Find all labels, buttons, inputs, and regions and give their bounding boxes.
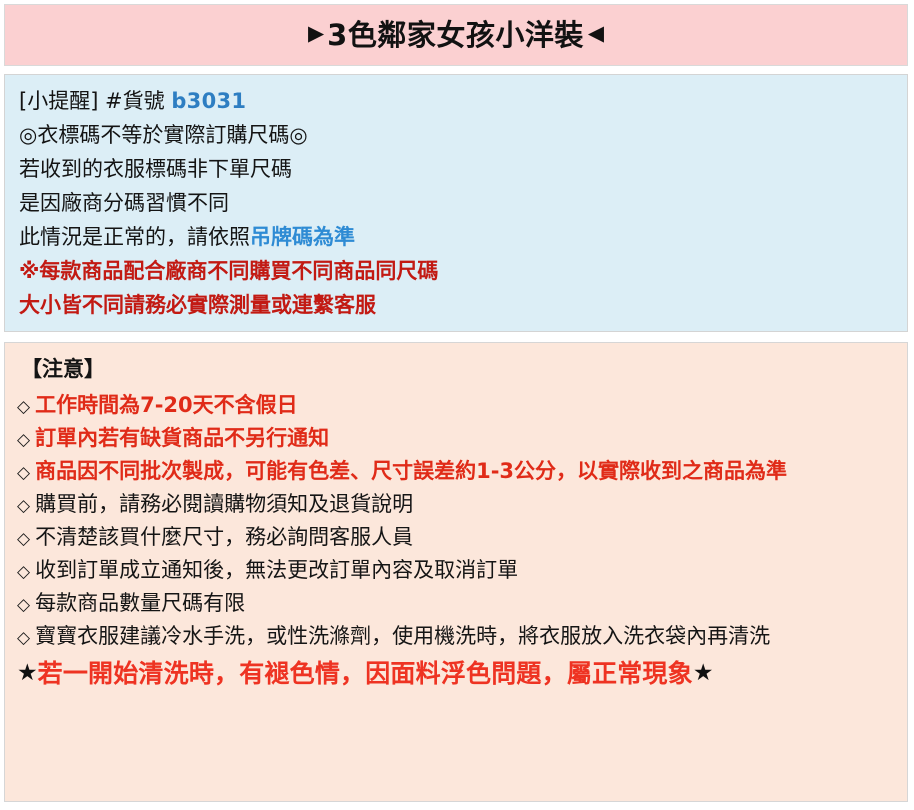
note-line-item-code: [小提醒] #貨號 b3031 [19, 85, 907, 119]
attention-item-label: 工作時間為7-20天不含假日 [35, 395, 298, 416]
note-line-hangtag-rule: 此情況是正常的，請依照吊牌碼為準 [19, 221, 907, 255]
diamond-bullet-icon: ◇ [17, 465, 30, 482]
diamond-bullet-icon: ◇ [17, 498, 30, 515]
diamond-bullet-icon: ◇ [17, 399, 30, 416]
product-code-value: b3031 [171, 89, 246, 113]
attention-item: ◇ 寶寶衣服建議冷水手洗，或性洗滌劑，使用機洗時，將衣服放入洗衣袋內再清洗 [17, 620, 907, 653]
attention-item: ◇ 商品因不同批次製成，可能有色差、尺寸誤差約1-3公分，以實際收到之商品為準 [17, 455, 907, 488]
attention-item: ◇ 工作時間為7-20天不含假日 [17, 389, 907, 422]
note-line-prefix: [小提醒] #貨號 [19, 89, 171, 113]
product-info-page: ▶ 3色鄰家女孩小洋裝 ◀ [小提醒] #貨號 b3031 ◎衣標碼不等於實際訂… [0, 0, 914, 810]
star-icon-right: ★ [693, 662, 714, 685]
attention-item: ◇ 不清楚該買什麼尺寸，務必詢問客服人員 [17, 521, 907, 554]
diamond-bullet-icon: ◇ [17, 564, 30, 581]
attention-item: ◇ 收到訂單成立通知後，無法更改訂單內容及取消訂單 [17, 554, 907, 587]
attention-footer: ★ 若一開始清洗時，有褪色情，因面料浮色問題，屬正常現象 ★ [17, 653, 907, 690]
attention-item-label: 每款商品數量尺碼有限 [35, 593, 245, 614]
reminder-note-box: [小提醒] #貨號 b3031 ◎衣標碼不等於實際訂購尺碼◎ 若收到的衣服標碼非… [4, 74, 908, 332]
note-line-size-disclaimer: ◎衣標碼不等於實際訂購尺碼◎ [19, 119, 907, 153]
note-line-vendor-sizing-warning: ※每款商品配合廠商不同購買不同商品同尺碼 [19, 255, 907, 289]
attention-item-label: 商品因不同批次製成，可能有色差、尺寸誤差約1-3公分，以實際收到之商品為準 [35, 461, 787, 482]
diamond-bullet-icon: ◇ [17, 432, 30, 449]
title-banner: ▶ 3色鄰家女孩小洋裝 ◀ [4, 4, 908, 66]
attention-item: ◇ 訂單內若有缺貨商品不另行通知 [17, 422, 907, 455]
attention-item: ◇ 購買前，請務必閱讀購物須知及退貨說明 [17, 488, 907, 521]
note-line-measure-warning: 大小皆不同請務必實際測量或連繫客服 [19, 289, 907, 323]
attention-heading: 【注意】 [17, 353, 907, 389]
attention-item-label: 不清楚該買什麼尺寸，務必詢問客服人員 [35, 527, 413, 548]
attention-item-label: 收到訂單成立通知後，無法更改訂單內容及取消訂單 [35, 560, 518, 581]
attention-item-label: 寶寶衣服建議冷水手洗，或性洗滌劑，使用機洗時，將衣服放入洗衣袋內再清洗 [35, 626, 770, 647]
note-line-prefix: 此情況是正常的，請依照 [19, 225, 250, 249]
attention-item-label: 購買前，請務必閱讀購物須知及退貨說明 [35, 494, 413, 515]
attention-box: 【注意】 ◇ 工作時間為7-20天不含假日 ◇ 訂單內若有缺貨商品不另行通知 ◇… [4, 342, 908, 802]
star-icon-left: ★ [17, 662, 38, 685]
attention-item-label: 訂單內若有缺貨商品不另行通知 [35, 428, 329, 449]
diamond-bullet-icon: ◇ [17, 531, 30, 548]
diamond-bullet-icon: ◇ [17, 630, 30, 647]
right-triangle-icon: ◀ [588, 21, 604, 45]
hangtag-highlight: 吊牌碼為準 [250, 225, 355, 249]
note-line-label-mismatch: 若收到的衣服標碼非下單尺碼 [19, 153, 907, 187]
page-title: 3色鄰家女孩小洋裝 [327, 21, 584, 50]
left-triangle-icon: ▶ [308, 21, 324, 45]
note-line-vendor-habit: 是因廠商分碼習慣不同 [19, 187, 907, 221]
diamond-bullet-icon: ◇ [17, 597, 30, 614]
attention-footer-label: 若一開始清洗時，有褪色情，因面料浮色問題，屬正常現象 [38, 661, 693, 686]
attention-item: ◇ 每款商品數量尺碼有限 [17, 587, 907, 620]
